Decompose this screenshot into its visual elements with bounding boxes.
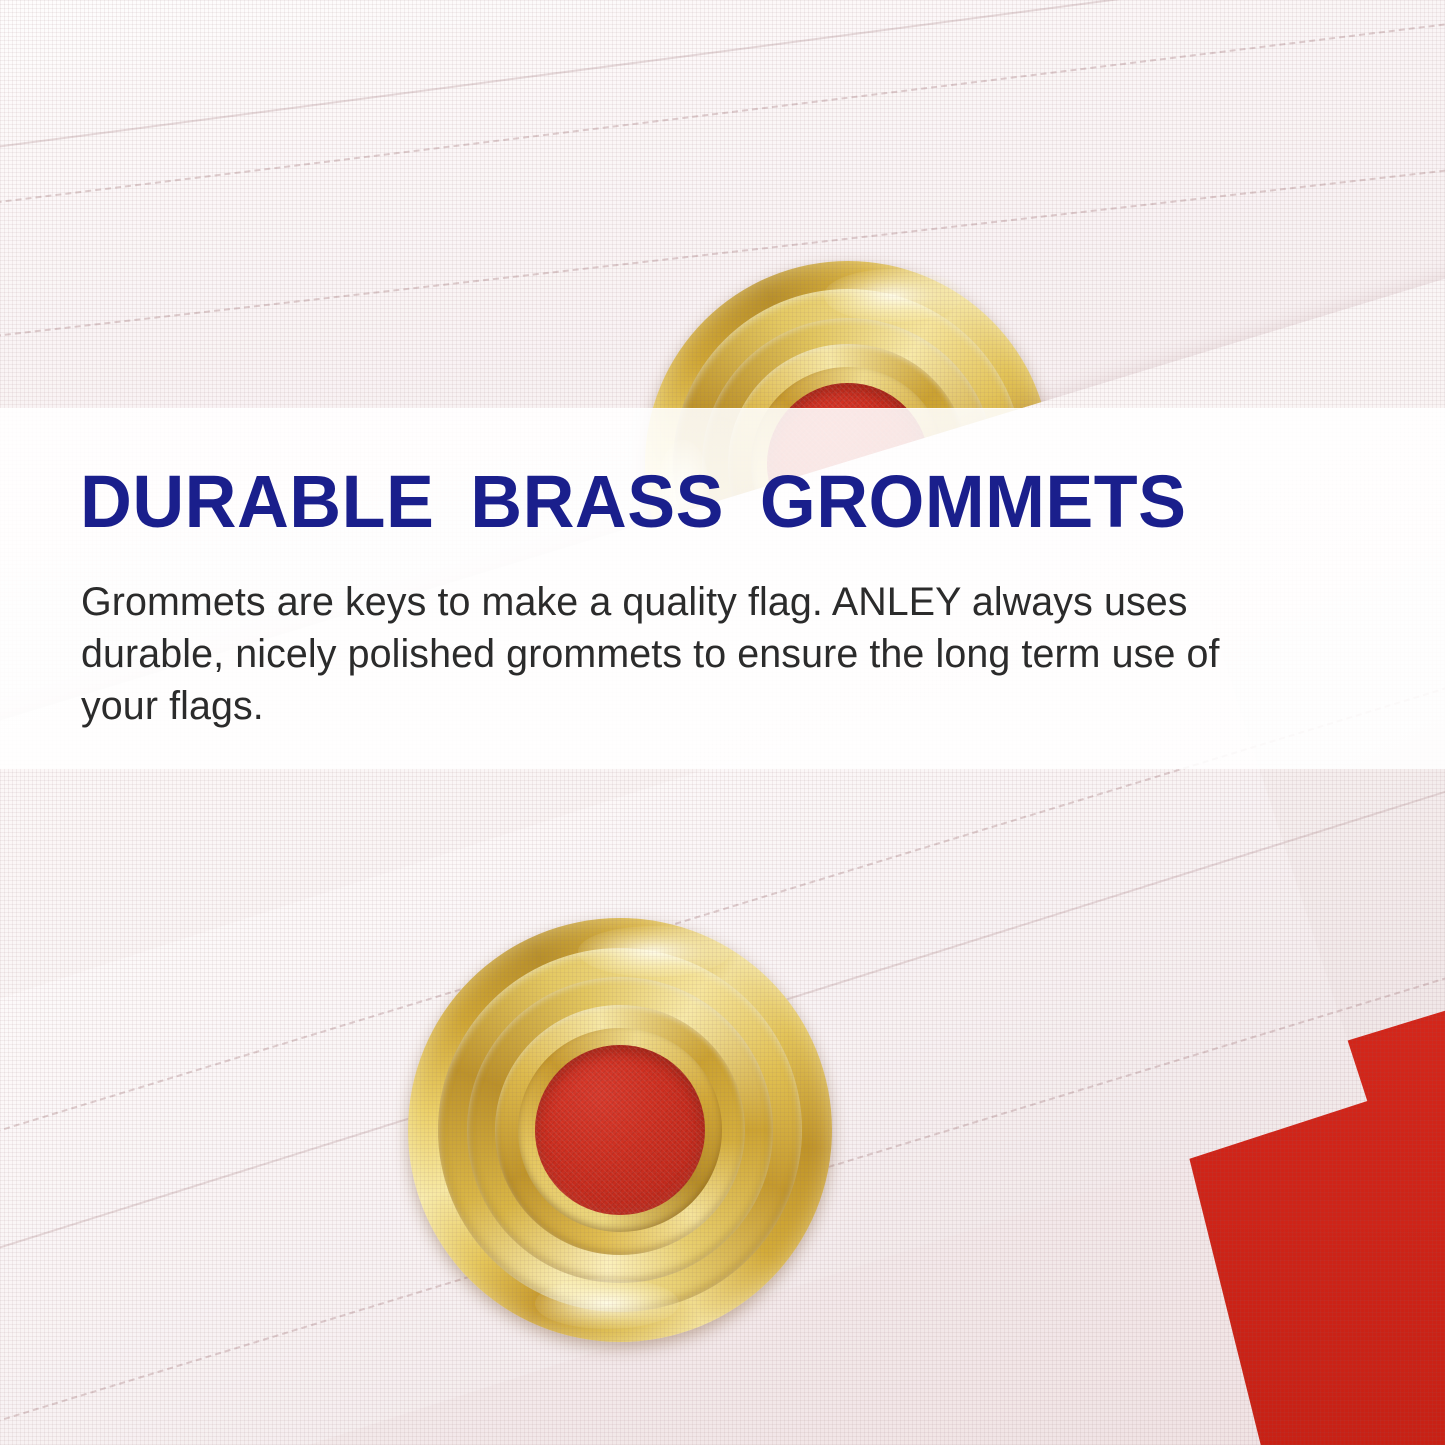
- feature-headline: DURABLE BRASS GROMMETS: [80, 462, 1186, 542]
- grommet-red-fabric-core: [535, 1045, 705, 1215]
- feature-description: Grommets are keys to make a quality flag…: [81, 576, 1263, 732]
- brass-grommet-bottom: [408, 918, 832, 1342]
- product-feature-image: DURABLE BRASS GROMMETS Grommets are keys…: [0, 0, 1445, 1445]
